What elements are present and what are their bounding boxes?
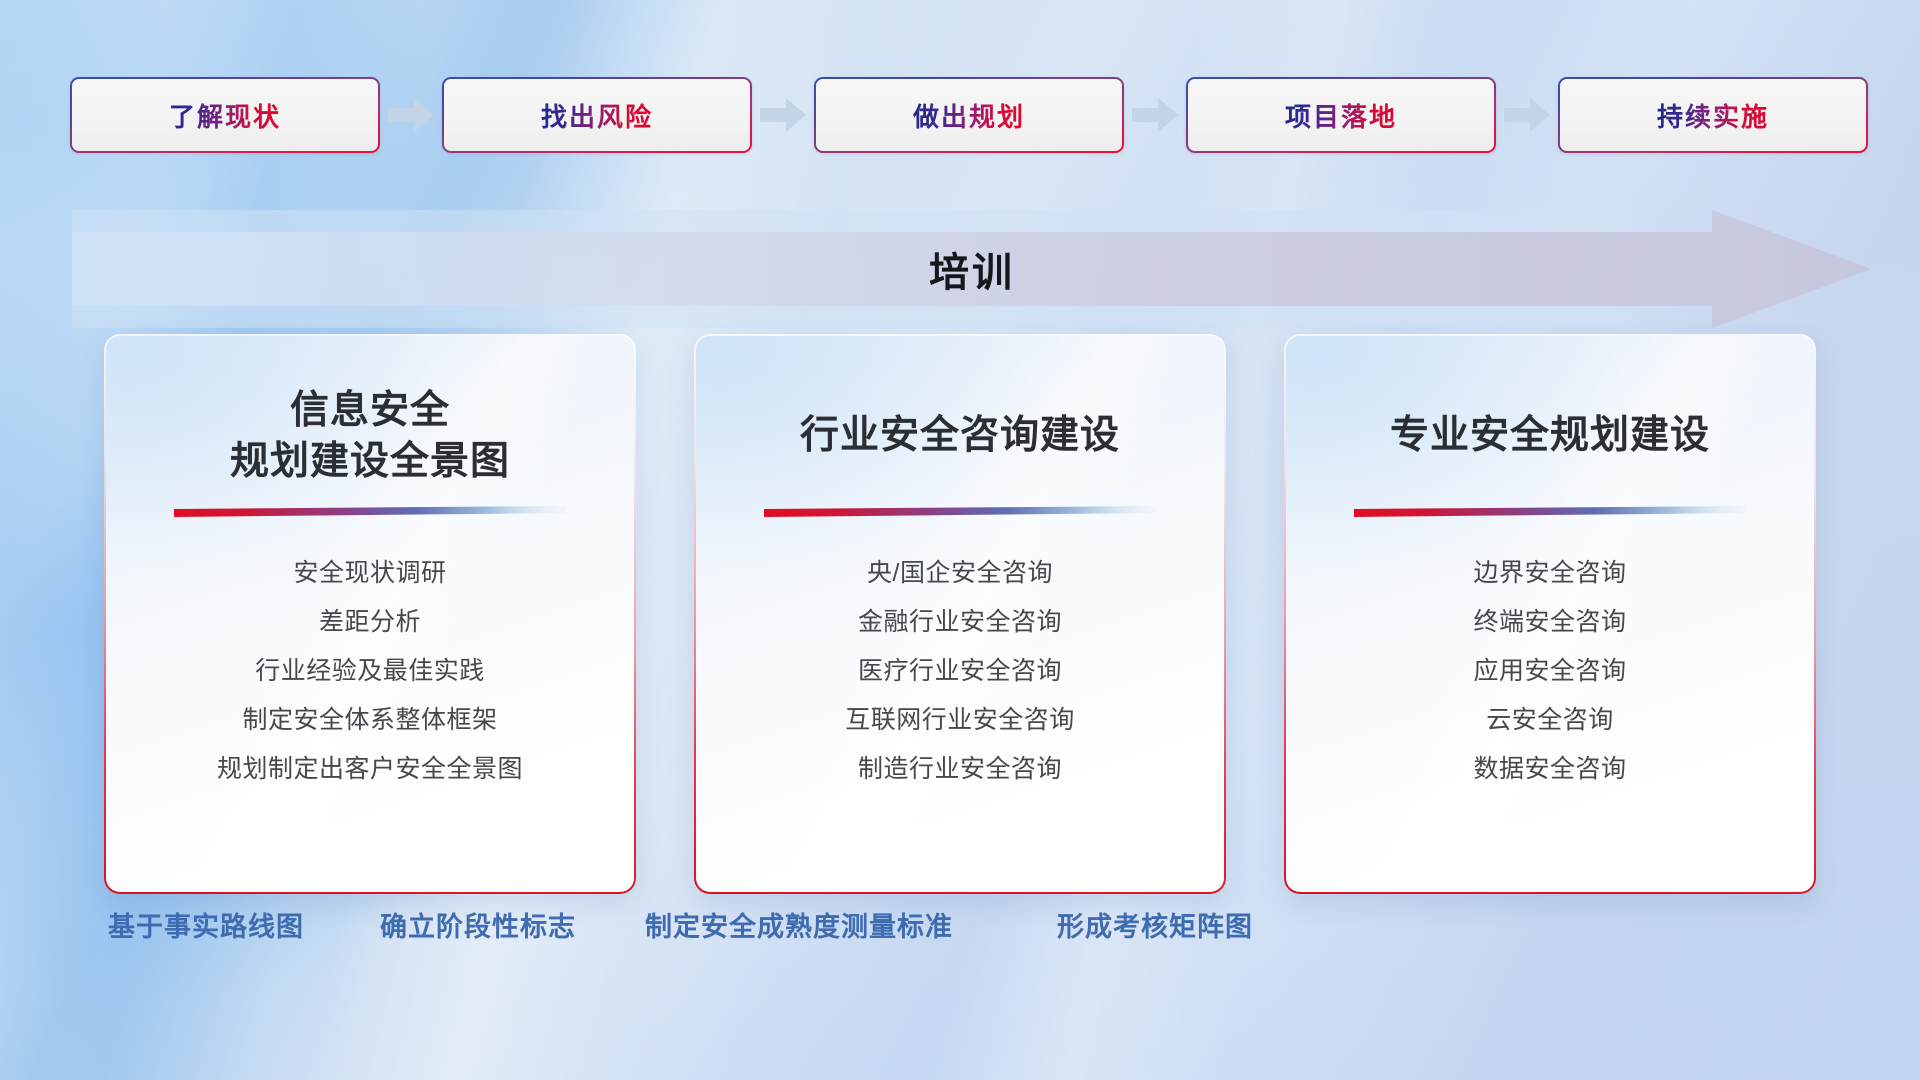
step-chip-3-label: 做出规划 [913,97,1025,134]
list-item: 医疗行业安全咨询 [696,647,1224,696]
step-chip-3[interactable]: 做出规划 [814,77,1124,153]
training-band: 培训 [72,210,1872,328]
step-chip-5[interactable]: 持续实施 [1558,77,1868,153]
process-step-row: 了解现状 找出风险 做出规划 [70,78,1850,152]
step-arrow-1 [380,98,442,132]
feature-card-1-divider [174,506,566,519]
feature-card-3-list: 边界安全咨询 终端安全咨询 应用安全咨询 云安全咨询 数据安全咨询 [1286,549,1814,794]
step-chip-3-body: 做出规划 [816,79,1122,151]
list-item: 云安全咨询 [1286,696,1814,745]
training-band-label: 培训 [72,210,1872,328]
list-item: 安全现状调研 [106,549,634,598]
list-item: 差距分析 [106,598,634,647]
step-chip-2-label: 找出风险 [541,97,653,134]
feature-card-2-divider [764,506,1156,519]
list-item: 规划制定出客户安全全景图 [106,745,634,794]
step-chip-5-label: 持续实施 [1657,97,1769,134]
slide-canvas: 了解现状 找出风险 做出规划 [0,0,1920,1080]
caption-2: 确立阶段性标志 [380,905,576,944]
caption-3: 制定安全成熟度测量标准 [645,905,953,944]
list-item: 制造行业安全咨询 [696,745,1224,794]
step-chip-1-body: 了解现状 [72,79,378,151]
feature-card-3-title: 专业安全规划建设 [1390,384,1710,488]
arrow-right-icon [388,98,434,132]
feature-card-3-divider [1354,506,1746,519]
feature-card-2-list: 央/国企安全咨询 金融行业安全咨询 医疗行业安全咨询 互联网行业安全咨询 制造行… [696,549,1224,794]
feature-card-2-title: 行业安全咨询建设 [800,384,1120,488]
step-chip-5-body: 持续实施 [1560,79,1866,151]
step-chip-1-label: 了解现状 [169,97,281,134]
feature-card-3-content: 专业安全规划建设 [1286,336,1814,892]
step-chip-4-body: 项目落地 [1188,79,1494,151]
list-item: 互联网行业安全咨询 [696,696,1224,745]
feature-card-1-list: 安全现状调研 差距分析 行业经验及最佳实践 制定安全体系整体框架 规划制定出客户… [106,549,634,794]
feature-card-2-body: 行业安全咨询建设 [696,336,1224,892]
feature-card-1[interactable]: 信息安全 规划建设全景图 [104,334,636,894]
list-item: 央/国企安全咨询 [696,549,1224,598]
step-chip-4[interactable]: 项目落地 [1186,77,1496,153]
feature-card-3[interactable]: 专业安全规划建设 [1284,334,1816,894]
caption-4: 形成考核矩阵图 [1057,905,1253,944]
gradient-divider-icon [1354,506,1746,519]
step-chip-2[interactable]: 找出风险 [442,77,752,153]
step-arrow-2 [752,98,814,132]
feature-card-1-body: 信息安全 规划建设全景图 [106,336,634,892]
feature-card-1-title: 信息安全 规划建设全景图 [230,384,510,488]
feature-card-2[interactable]: 行业安全咨询建设 [694,334,1226,894]
arrow-right-icon [1132,98,1178,132]
arrow-right-icon [1504,98,1550,132]
feature-card-3-body: 专业安全规划建设 [1286,336,1814,892]
list-item: 应用安全咨询 [1286,647,1814,696]
step-chip-2-body: 找出风险 [444,79,750,151]
arrow-right-icon [760,98,806,132]
list-item: 终端安全咨询 [1286,598,1814,647]
caption-1: 基于事实路线图 [108,905,304,944]
step-arrow-3 [1124,98,1186,132]
list-item: 行业经验及最佳实践 [106,647,634,696]
list-item: 金融行业安全咨询 [696,598,1224,647]
list-item: 数据安全咨询 [1286,745,1814,794]
feature-card-1-content: 信息安全 规划建设全景图 [106,336,634,892]
step-arrow-4 [1496,98,1558,132]
step-chip-4-label: 项目落地 [1285,97,1397,134]
list-item: 制定安全体系整体框架 [106,696,634,745]
feature-card-2-content: 行业安全咨询建设 [696,336,1224,892]
feature-card-row: 信息安全 规划建设全景图 [0,334,1920,894]
step-chip-1[interactable]: 了解现状 [70,77,380,153]
list-item: 边界安全咨询 [1286,549,1814,598]
gradient-divider-icon [174,506,566,519]
gradient-divider-icon [764,506,1156,519]
caption-row: 基于事实路线图 确立阶段性标志 制定安全成熟度测量标准 形成考核矩阵图 [0,905,1920,965]
